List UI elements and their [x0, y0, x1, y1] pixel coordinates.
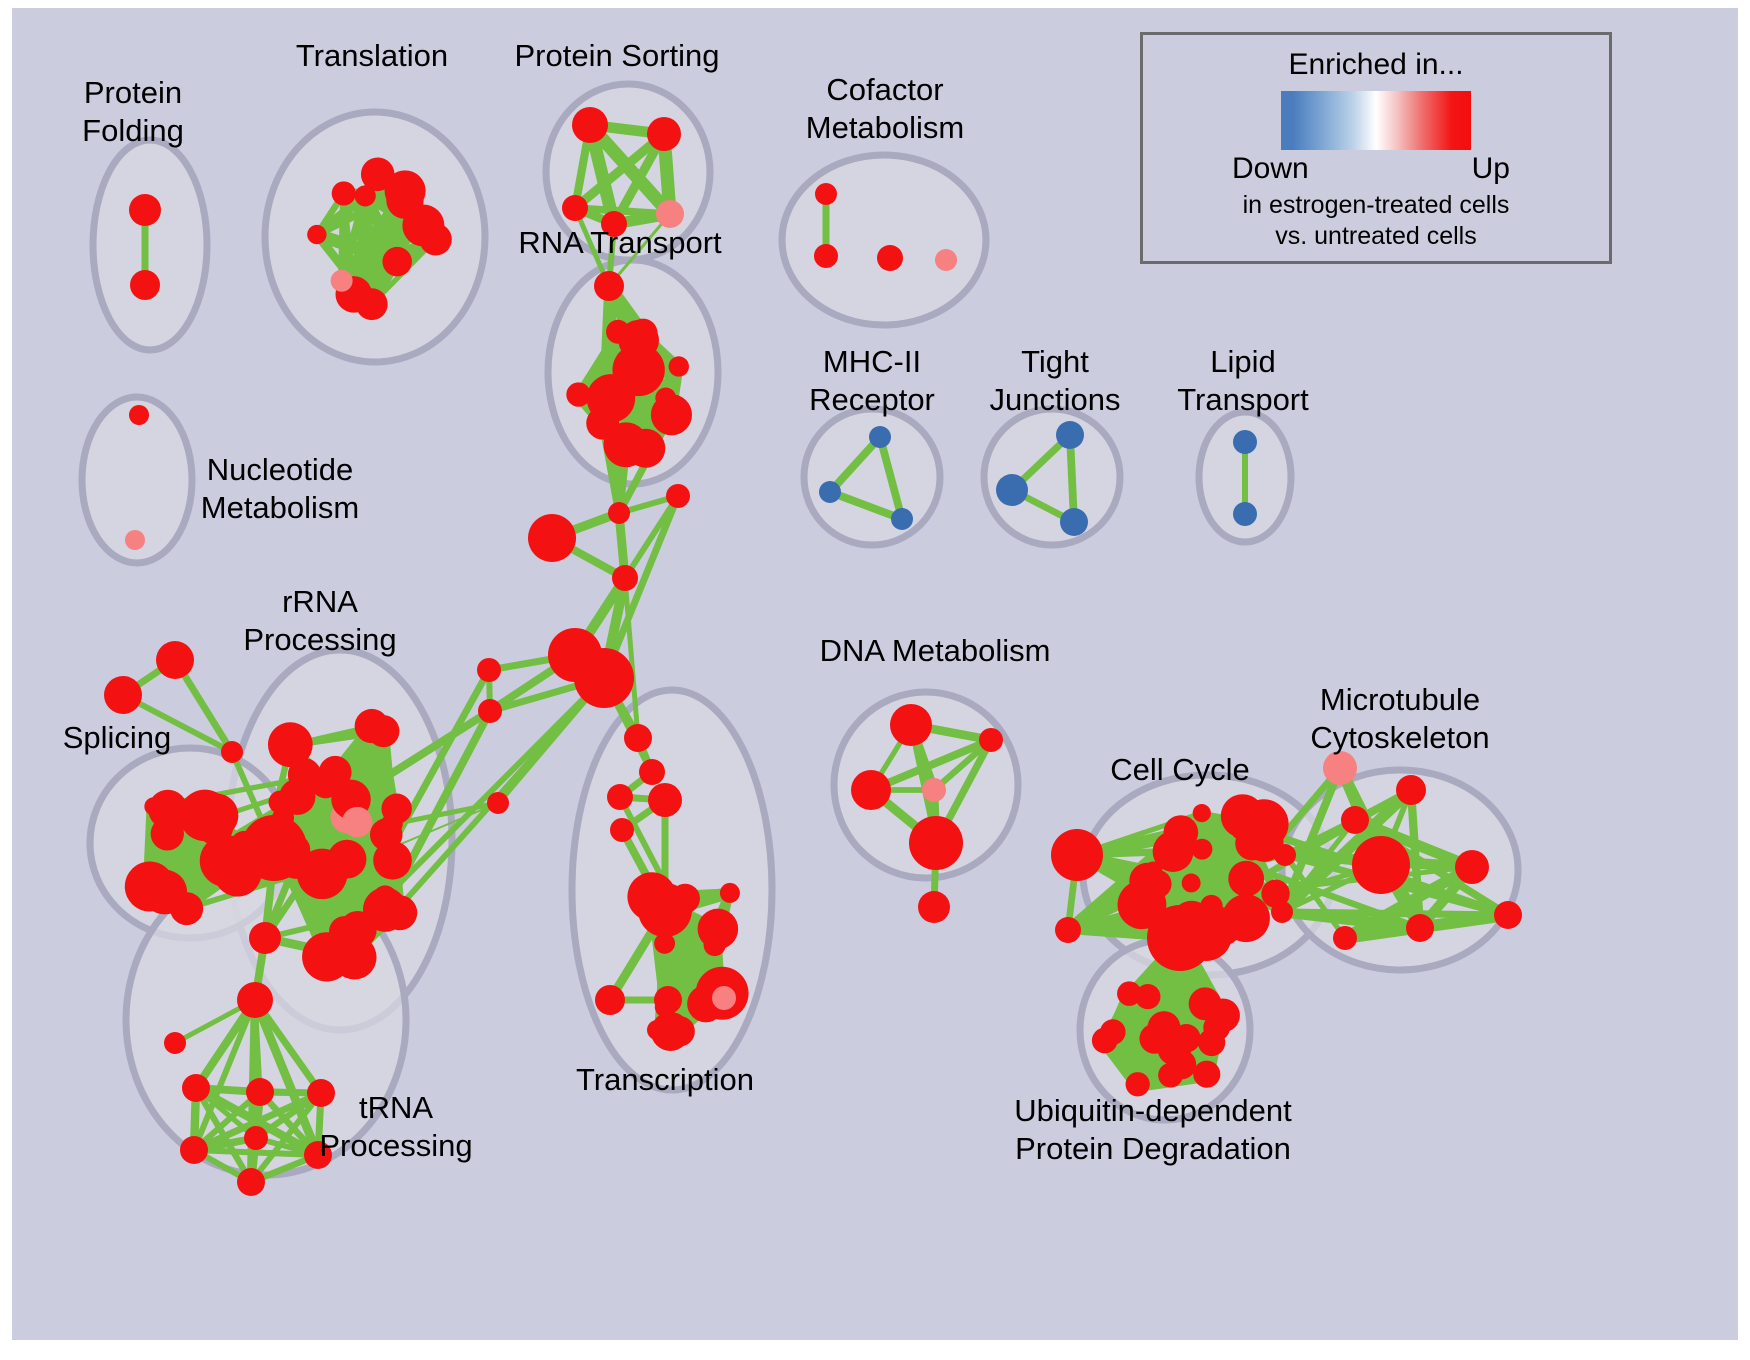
cluster-label-cell-cycle: Cell Cycle — [1110, 752, 1250, 787]
network-node[interactable] — [129, 405, 149, 425]
network-node[interactable] — [244, 1126, 268, 1150]
network-node[interactable] — [1158, 1063, 1183, 1088]
legend-down-label: Down — [1232, 152, 1309, 186]
network-node[interactable] — [269, 791, 292, 814]
network-node[interactable] — [156, 641, 194, 679]
network-node[interactable] — [574, 648, 634, 708]
network-node[interactable] — [1274, 844, 1296, 866]
network-node[interactable] — [1228, 861, 1264, 897]
network-node[interactable] — [373, 841, 412, 880]
network-node[interactable] — [342, 807, 372, 837]
network-node[interactable] — [382, 895, 417, 930]
network-node[interactable] — [307, 225, 326, 244]
cluster-label-mhc-ii-receptor: MHC-IIReceptor — [809, 344, 935, 417]
network-node[interactable] — [182, 1074, 210, 1102]
network-node[interactable] — [624, 724, 652, 752]
network-node[interactable] — [1193, 1061, 1220, 1088]
legend-endpoints: Down Up — [1226, 152, 1526, 190]
network-node[interactable] — [237, 1168, 265, 1196]
network-node[interactable] — [1206, 998, 1240, 1032]
network-node[interactable] — [654, 986, 682, 1014]
network-node[interactable] — [648, 783, 682, 817]
network-node[interactable] — [1406, 914, 1434, 942]
network-node[interactable] — [1182, 873, 1201, 892]
network-node[interactable] — [996, 474, 1028, 506]
cluster-label-protein-folding: ProteinFolding — [82, 75, 184, 148]
legend-up-label: Up — [1472, 152, 1510, 186]
network-node[interactable] — [1333, 926, 1357, 950]
network-node[interactable] — [891, 508, 913, 530]
network-node[interactable] — [307, 1079, 335, 1107]
network-node[interactable] — [666, 484, 690, 508]
network-node[interactable] — [890, 704, 932, 746]
network-node[interactable] — [656, 200, 684, 228]
legend-caption-line2: vs. untreated cells — [1143, 221, 1609, 252]
network-node[interactable] — [104, 676, 142, 714]
network-node[interactable] — [477, 658, 501, 682]
network-node[interactable] — [1233, 502, 1257, 526]
network-node[interactable] — [367, 715, 399, 747]
legend-color-ramp — [1281, 91, 1471, 150]
network-node[interactable] — [1055, 917, 1081, 943]
network-node[interactable] — [1455, 850, 1489, 884]
network-node[interactable] — [1323, 751, 1357, 785]
cluster-label-nucleotide-metabolism: NucleotideMetabolism — [201, 452, 360, 525]
network-node[interactable] — [478, 699, 502, 723]
network-node[interactable] — [129, 194, 161, 226]
network-node[interactable] — [566, 382, 590, 406]
network-node[interactable] — [331, 270, 353, 292]
network-node[interactable] — [819, 481, 841, 503]
network-node[interactable] — [572, 107, 608, 143]
cluster-label-lipid-transport: LipidTransport — [1177, 344, 1309, 417]
network-node[interactable] — [382, 247, 412, 277]
network-node[interactable] — [221, 741, 243, 763]
network-node[interactable] — [720, 883, 740, 903]
network-node[interactable] — [164, 1032, 186, 1054]
network-node[interactable] — [629, 319, 658, 348]
network-node[interactable] — [125, 862, 175, 912]
legend-caption-line1: in estrogen-treated cells — [1143, 190, 1609, 221]
cluster-label-tight-junctions: TightJunctions — [990, 344, 1121, 417]
network-node[interactable] — [595, 985, 625, 1015]
network-node[interactable] — [639, 759, 665, 785]
network-node[interactable] — [125, 530, 145, 550]
network-node[interactable] — [1352, 836, 1410, 894]
network-node[interactable] — [1271, 901, 1293, 923]
network-node[interactable] — [922, 778, 946, 802]
cluster-label-rna-transport: RNA Transport — [518, 225, 722, 260]
network-node[interactable] — [332, 181, 356, 205]
network-node[interactable] — [909, 816, 963, 870]
network-node[interactable] — [1051, 829, 1103, 881]
network-node[interactable] — [381, 813, 403, 835]
network-node[interactable] — [586, 407, 619, 440]
network-node[interactable] — [918, 891, 950, 923]
network-node[interactable] — [1180, 909, 1232, 961]
network-node[interactable] — [612, 344, 664, 396]
network-node[interactable] — [979, 728, 1003, 752]
network-node[interactable] — [1233, 430, 1257, 454]
network-node[interactable] — [197, 809, 233, 845]
network-node[interactable] — [814, 244, 838, 268]
network-node[interactable] — [1135, 984, 1160, 1009]
network-node[interactable] — [1056, 421, 1084, 449]
network-node[interactable] — [180, 1136, 208, 1164]
network-node[interactable] — [669, 356, 689, 376]
network-node[interactable] — [246, 1078, 274, 1106]
network-node[interactable] — [851, 770, 891, 810]
network-node[interactable] — [402, 205, 444, 247]
network-node[interactable] — [638, 883, 692, 937]
network-node[interactable] — [877, 245, 903, 271]
network-node[interactable] — [704, 934, 726, 956]
cluster-label-dna-metabolism: DNA Metabolism — [820, 633, 1051, 668]
network-node[interactable] — [608, 502, 630, 524]
network-node[interactable] — [935, 249, 957, 271]
network-node[interactable] — [651, 394, 692, 435]
network-node[interactable] — [869, 426, 891, 448]
cluster-label-cofactor-metabolism: CofactorMetabolism — [806, 72, 965, 145]
network-node[interactable] — [130, 270, 160, 300]
network-node[interactable] — [647, 1020, 667, 1040]
cluster-hull-cofactor-metabolism — [782, 155, 986, 325]
figure-canvas: ProteinFoldingTranslationProtein Sorting… — [0, 0, 1750, 1360]
cluster-hull-protein-folding — [93, 140, 207, 350]
network-node[interactable] — [259, 819, 282, 842]
network-node[interactable] — [607, 784, 633, 810]
network-node[interactable] — [610, 818, 634, 842]
network-node[interactable] — [1060, 508, 1088, 536]
network-node[interactable] — [1396, 775, 1426, 805]
legend-title: Enriched in... — [1143, 45, 1609, 85]
network-node[interactable] — [815, 183, 837, 205]
cluster-label-transcription: Transcription — [576, 1062, 754, 1097]
cluster-label-splicing: Splicing — [63, 720, 172, 755]
network-node[interactable] — [612, 565, 638, 591]
network-node[interactable] — [288, 758, 321, 791]
cluster-label-translation: Translation — [296, 38, 448, 73]
network-edge — [255, 1000, 256, 1138]
network-node[interactable] — [1100, 1019, 1126, 1045]
cluster-hull-mhc-ii-receptor — [804, 409, 940, 545]
network-node[interactable] — [302, 932, 351, 981]
cluster-label-protein-sorting: Protein Sorting — [514, 38, 719, 73]
network-node[interactable] — [1494, 901, 1522, 929]
cluster-label-rrna-processing: rRNAProcessing — [243, 584, 396, 657]
network-node[interactable] — [647, 117, 681, 151]
network-node[interactable] — [280, 847, 312, 879]
network-node[interactable] — [1192, 839, 1213, 860]
network-node[interactable] — [1193, 804, 1211, 822]
network-node[interactable] — [1341, 806, 1369, 834]
network-node[interactable] — [487, 792, 509, 814]
network-node[interactable] — [237, 982, 273, 1018]
network-node[interactable] — [1172, 1024, 1200, 1052]
network-node[interactable] — [562, 195, 588, 221]
network-node[interactable] — [594, 271, 624, 301]
cluster-label-ubiquitin-protein-degradation: Ubiquitin-dependentProtein Degradation — [1014, 1093, 1292, 1166]
legend-panel: Enriched in... Down Up in estrogen-treat… — [1140, 32, 1612, 264]
network-node[interactable] — [249, 922, 281, 954]
network-node[interactable] — [712, 986, 736, 1010]
cluster-label-microtubule-cytoskeleton: MicrotubuleCytoskeleton — [1310, 682, 1489, 755]
network-node[interactable] — [528, 514, 576, 562]
